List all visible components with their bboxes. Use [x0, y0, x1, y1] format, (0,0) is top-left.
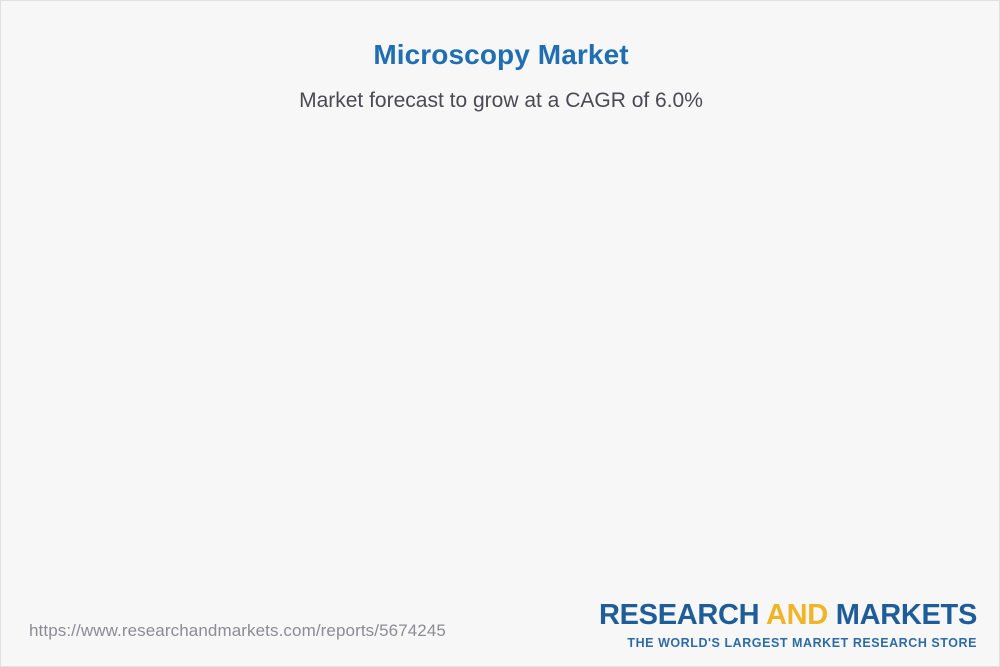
logo-word-research: RESEARCH [599, 599, 766, 631]
logo-tagline: THE WORLD'S LARGEST MARKET RESEARCH STOR… [599, 636, 977, 650]
chart-canvas: Microscopy Market Market forecast to gro… [0, 0, 1000, 667]
plot-area: USD 8.86 Billion 2025 USD 13.34 Billion [1, 1, 1000, 591]
logo-word-markets: MARKETS [828, 599, 977, 631]
research-and-markets-logo[interactable]: RESEARCH AND MARKETS THE WORLD'S LARGEST… [599, 601, 977, 650]
logo-wordmark: RESEARCH AND MARKETS [599, 601, 977, 630]
logo-word-and: AND [766, 599, 828, 631]
source-url[interactable]: https://www.researchandmarkets.com/repor… [29, 621, 446, 641]
